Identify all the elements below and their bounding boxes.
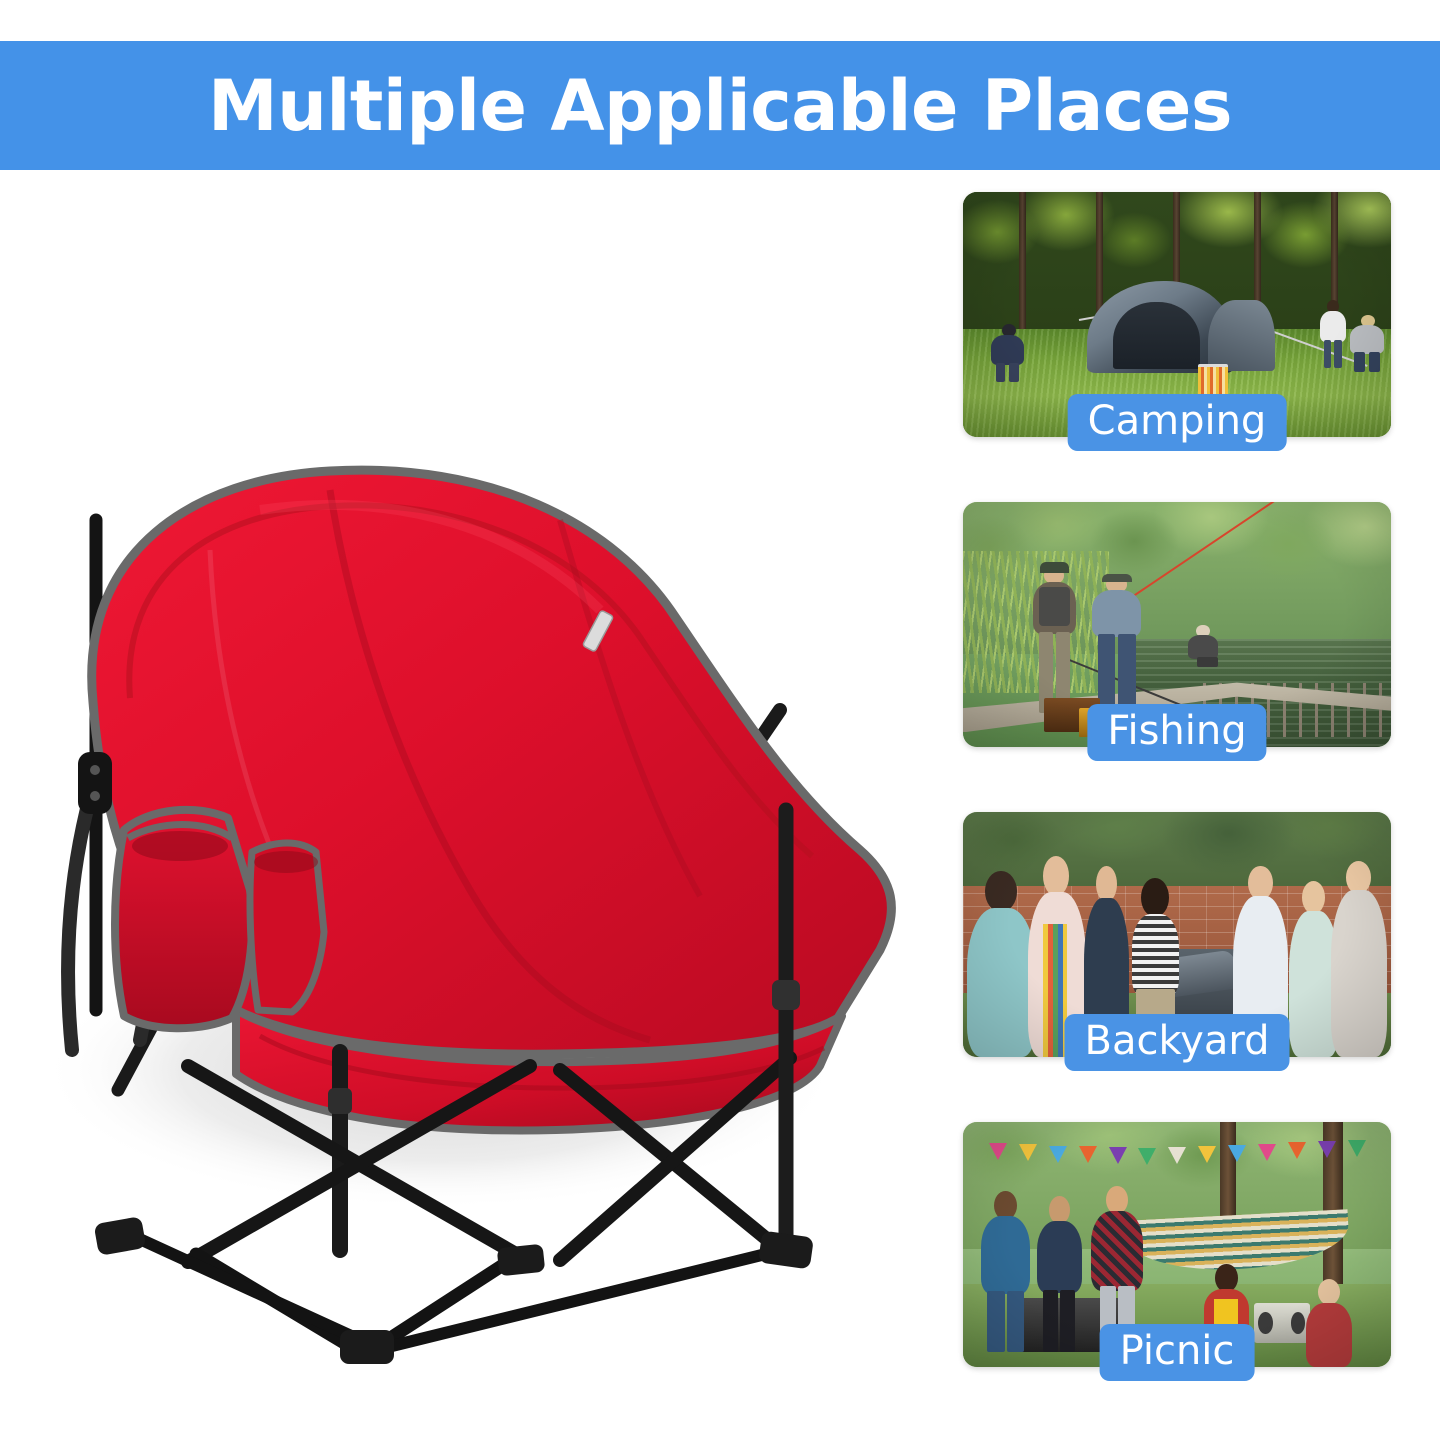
infographic-page: Multiple Applicable Places — [0, 0, 1440, 1440]
use-case-panel-list: Camping — [963, 192, 1393, 1367]
panel-label-backyard: Backyard — [1065, 1014, 1290, 1071]
panel-label-camping: Camping — [1068, 394, 1287, 451]
use-case-panel-fishing[interactable]: Fishing — [963, 502, 1391, 747]
use-case-panel-camping[interactable]: Camping — [963, 192, 1391, 437]
header-banner: Multiple Applicable Places — [0, 41, 1440, 170]
chair-illustration — [0, 190, 940, 1390]
armrest-hinge — [78, 752, 112, 814]
use-case-panel-picnic[interactable]: Picnic — [963, 1122, 1391, 1367]
product-image-chair — [0, 190, 940, 1390]
use-case-panel-backyard[interactable]: Backyard — [963, 812, 1391, 1057]
panel-label-fishing: Fishing — [1087, 704, 1266, 761]
panel-label-picnic: Picnic — [1100, 1324, 1255, 1381]
side-cup-holder-pocket — [115, 810, 324, 1028]
page-title: Multiple Applicable Places — [208, 71, 1232, 141]
